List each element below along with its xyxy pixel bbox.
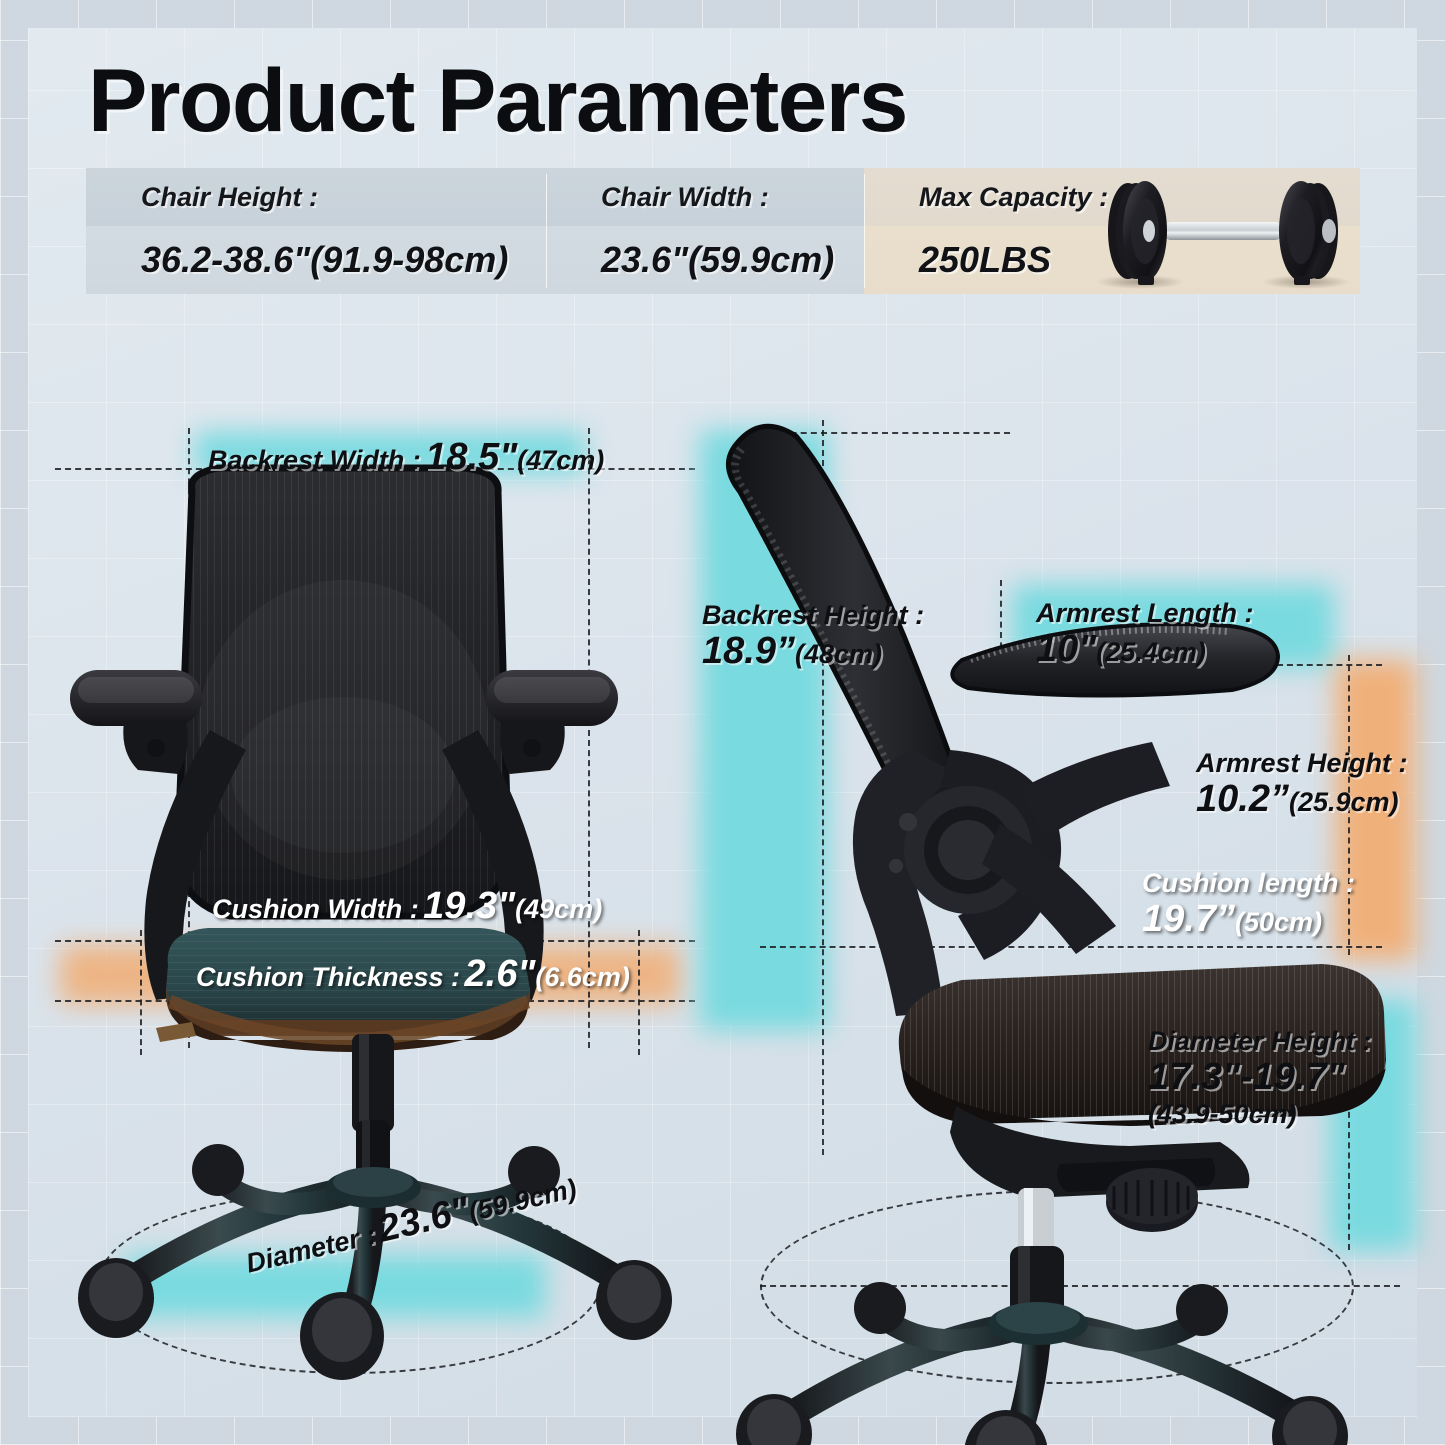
spec-metric-chair-height: (91.9-98cm) — [310, 239, 508, 281]
spec-label-chair-width: Chair Width : — [601, 182, 769, 213]
caption-cushion-thickness: Cushion Thickness : 2.6"(6.6cm) — [196, 953, 630, 996]
caption-cushion-length: Cushion length : 19.7”(50cm) — [1142, 868, 1355, 941]
spec-cell-max-capacity: Max Capacity : 250LBS — [864, 168, 1360, 294]
infographic-canvas: Product Parameters Chair Height : 36.2-3… — [0, 0, 1445, 1445]
spec-value-chair-width: 23.6" — [601, 239, 688, 281]
dumbbell-icon — [1092, 172, 1352, 290]
spec-label-wrap: Chair Height : — [86, 168, 546, 226]
spec-cell-chair-height: Chair Height : 36.2-38.6" (91.9-98cm) — [86, 168, 546, 294]
caption-armrest-height: Armrest Height : 10.2”(25.9cm) — [1196, 748, 1408, 821]
caption-backrest-width: Backrest Width : 18.5"(47cm) — [208, 436, 604, 479]
spec-label-chair-height: Chair Height : — [141, 182, 318, 213]
spec-value-max-capacity: 250LBS — [919, 239, 1051, 281]
spec-label-max-capacity: Max Capacity : — [919, 182, 1108, 213]
spec-label-wrap: Chair Width : — [546, 168, 864, 226]
spec-table: Chair Height : 36.2-38.6" (91.9-98cm) Ch… — [86, 168, 1360, 294]
caption-armrest-length: Armrest Length : 10"(25.4cm) — [1036, 598, 1254, 671]
spec-metric-chair-width: (59.9cm) — [688, 239, 834, 281]
caption-cushion-width: Cushion Width : 19.3"(49cm) — [212, 885, 602, 928]
spec-cell-chair-width: Chair Width : 23.6" (59.9cm) — [546, 168, 864, 294]
spec-value-chair-height: 36.2-38.6" — [141, 239, 310, 281]
spec-value-wrap: 23.6" (59.9cm) — [546, 226, 864, 294]
spec-value-wrap: 36.2-38.6" (91.9-98cm) — [86, 226, 546, 294]
caption-backrest-height: Backrest Height : 18.9”(48cm) — [702, 600, 924, 673]
caption-diameter-height: Diameter Height : 17.3"-19.7" (43.9-50cm… — [1148, 1026, 1372, 1129]
page-title: Product Parameters — [88, 56, 907, 145]
